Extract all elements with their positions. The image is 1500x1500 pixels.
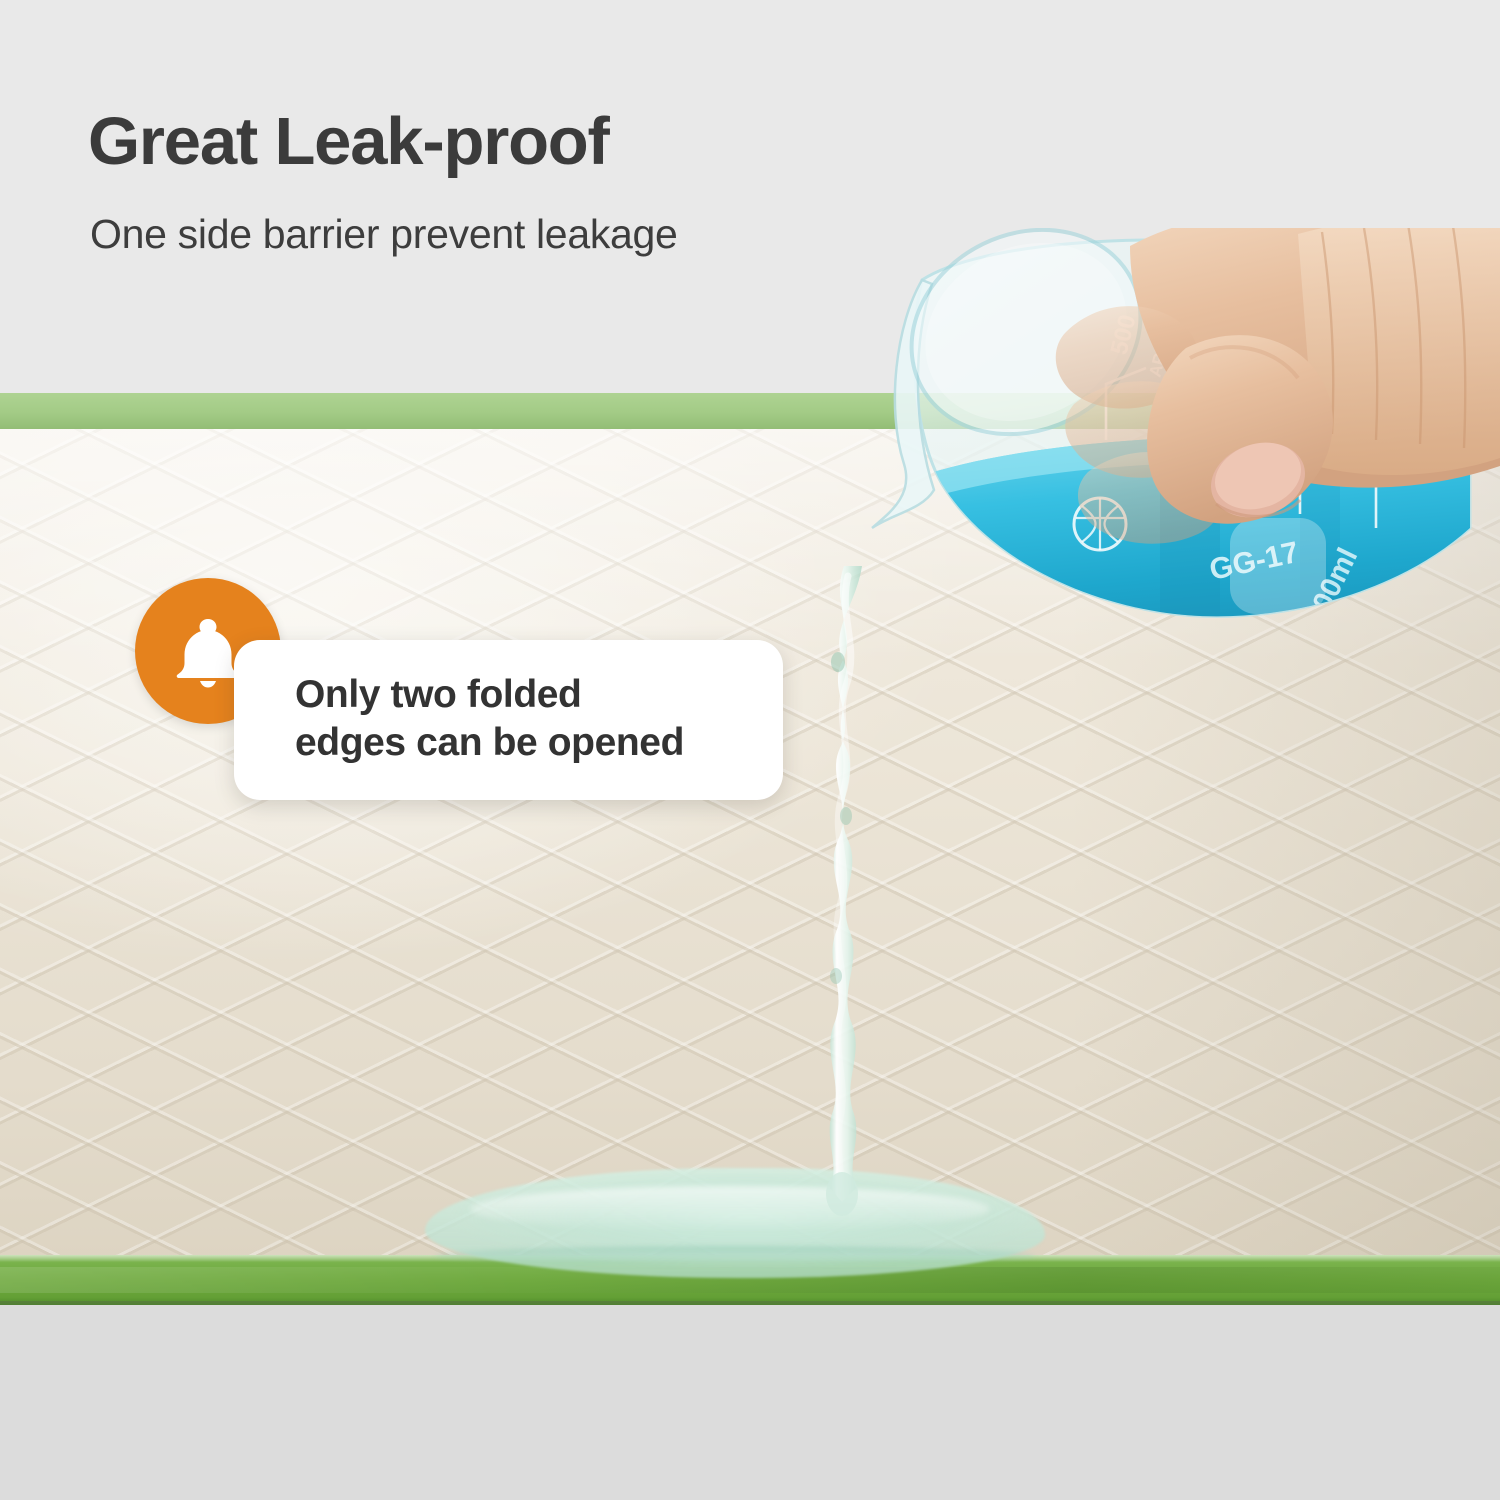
footer-band <box>0 1305 1500 1500</box>
callout-line-2: edges can be opened <box>295 719 684 767</box>
hand-holding-beaker: GG-17 500ml 500 APPROX 300 <box>830 228 1500 748</box>
barrier-drop-shadow <box>0 1301 1500 1305</box>
callout-line-1: Only two folded <box>295 671 684 719</box>
page-subtitle: One side barrier prevent leakage <box>90 214 678 255</box>
feature-callout: Only two folded edges can be opened <box>135 578 795 808</box>
callout-text: Only two folded edges can be opened <box>295 671 684 766</box>
product-feature-image: Great Leak-proof One side barrier preven… <box>0 0 1500 1500</box>
page-title: Great Leak-proof <box>88 108 609 175</box>
puddle-lower-edge <box>435 1246 1035 1266</box>
